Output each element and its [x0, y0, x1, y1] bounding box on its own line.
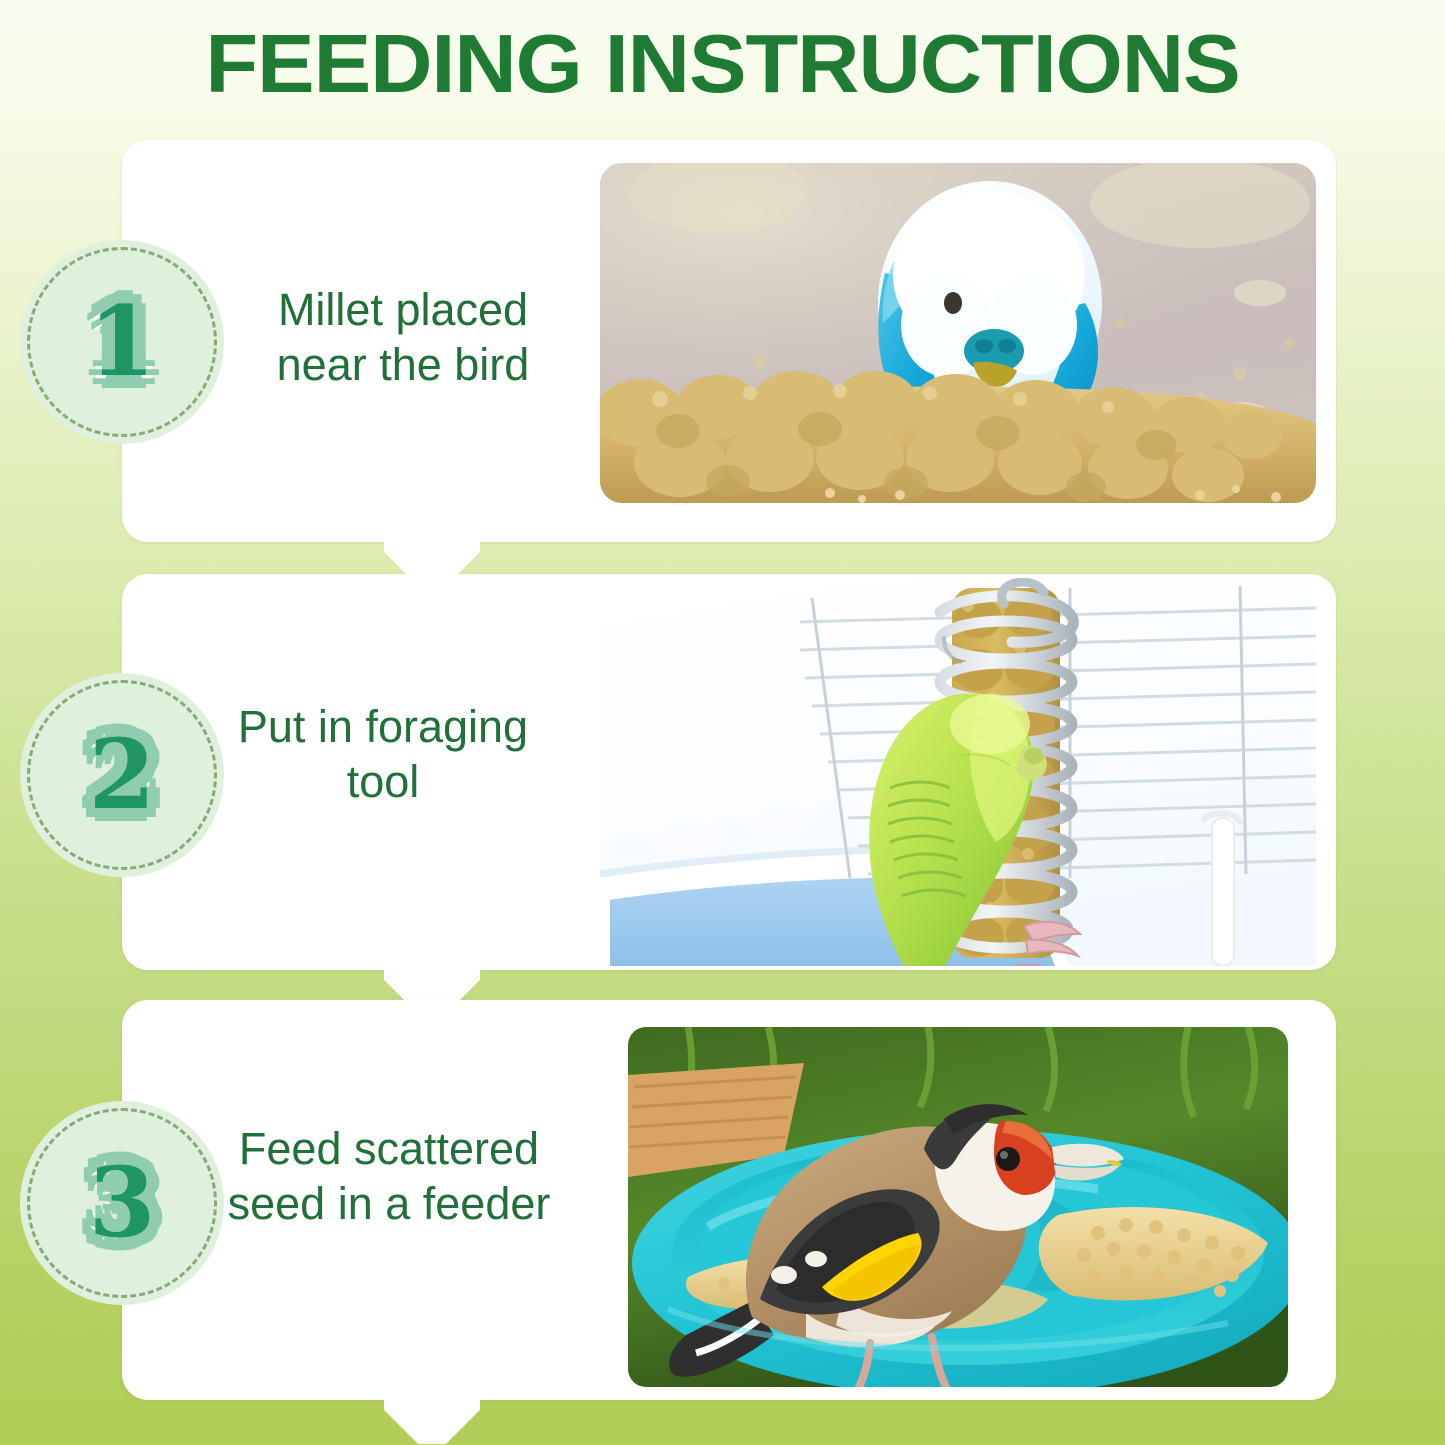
step-text-2: Put in foraging tool — [213, 700, 553, 810]
step-number-3: 3 — [89, 1155, 156, 1251]
card-connector-tab-3 — [384, 1396, 480, 1444]
step-badge-2: 2 — [27, 680, 217, 870]
step-badge-1: 1 — [27, 247, 217, 437]
step-number-2: 2 — [89, 727, 156, 823]
step-image-3 — [628, 1027, 1288, 1387]
step-image-2 — [600, 578, 1316, 966]
step-text-1: Millet placed near the bird — [233, 283, 573, 393]
infographic-page: FEEDING INSTRUCTIONS — [0, 0, 1445, 1445]
step-number-1: 1 — [89, 294, 156, 390]
page-title: FEEDING INSTRUCTIONS — [0, 22, 1445, 105]
step-badge-3: 3 — [27, 1108, 217, 1298]
step-text-3: Feed scattered seed in a feeder — [200, 1122, 578, 1232]
step-image-1 — [600, 163, 1316, 503]
